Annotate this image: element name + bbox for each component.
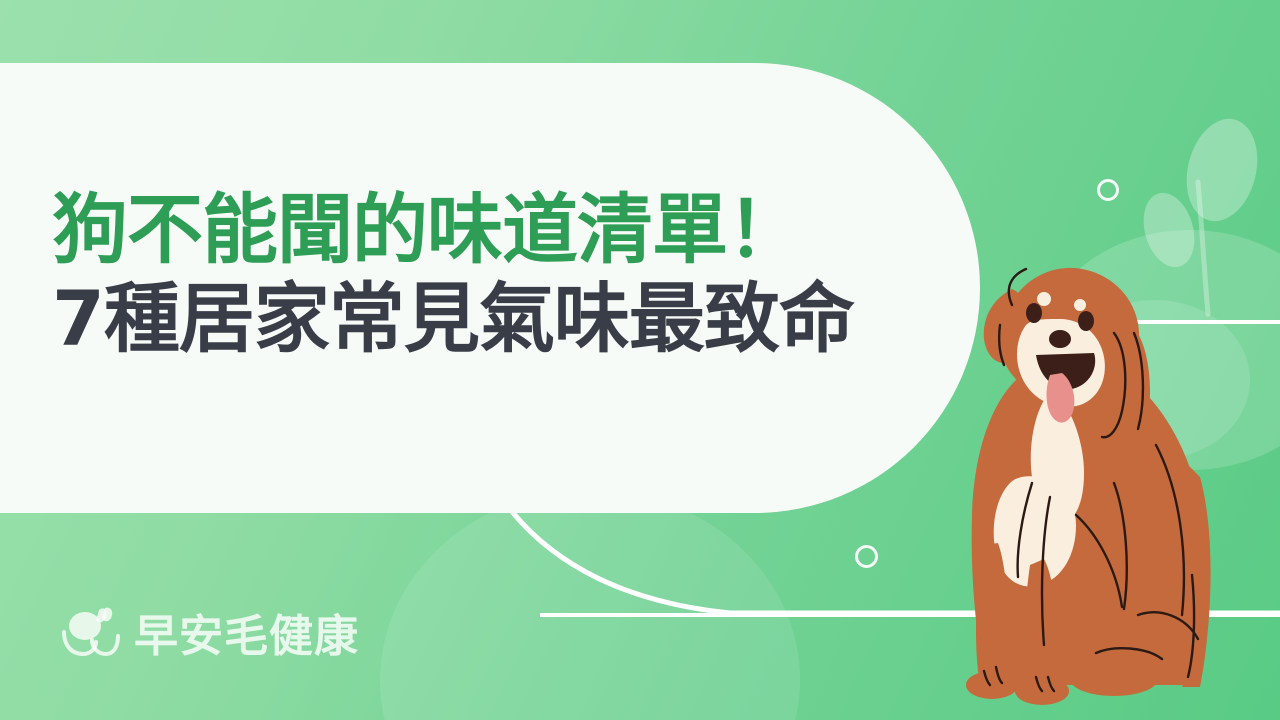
page-title: 狗不能聞的味道清單！ 7種居家常見氣味最致命: [52, 186, 932, 364]
dog-head-icon: [58, 604, 120, 660]
circle-outline-bottom-icon: [855, 545, 878, 568]
headline-line-1: 狗不能聞的味道清單！: [52, 186, 932, 275]
circle-outline-top-icon: [1097, 179, 1119, 201]
banner-canvas: 狗不能聞的味道清單！ 7種居家常見氣味最致命: [0, 0, 1280, 720]
sitting-dog-illustration: [900, 215, 1220, 715]
brand-logo[interactable]: 早安毛健康: [58, 600, 359, 664]
headline-line-2: 7種居家常見氣味最致命: [52, 275, 932, 364]
background-blob-bottom: [380, 490, 800, 720]
brand-name-text: 早安毛健康: [134, 600, 359, 664]
